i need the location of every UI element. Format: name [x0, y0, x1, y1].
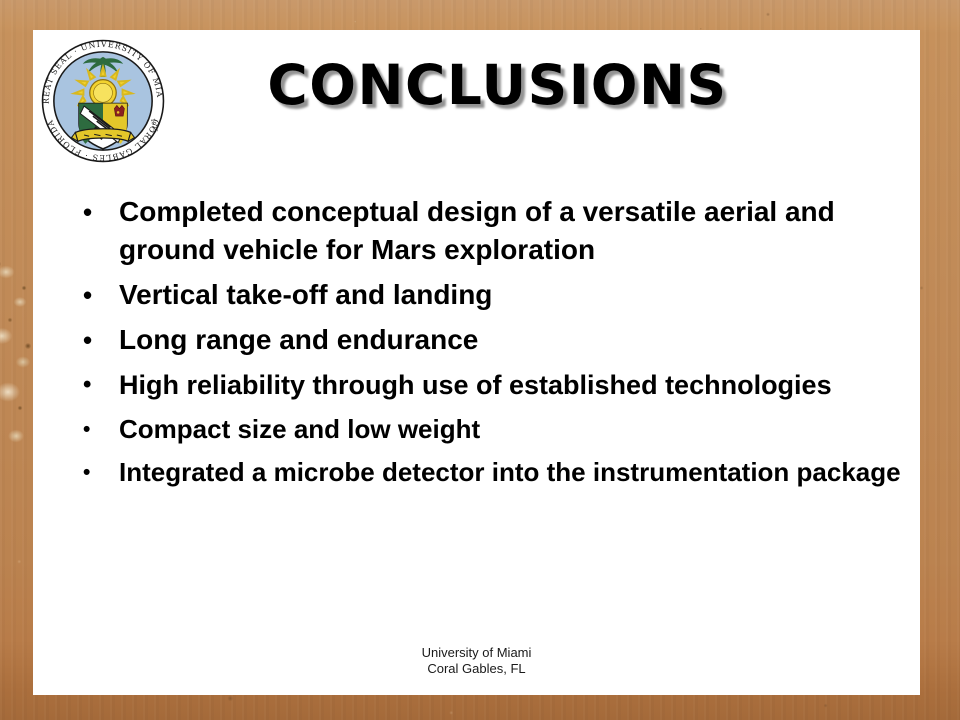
footer-line-institution: University of Miami — [33, 645, 920, 661]
list-item-text: Compact size and low weight — [119, 411, 918, 448]
bullet-marker-icon: • — [83, 411, 119, 448]
list-item-text: High reliability through use of establis… — [119, 366, 918, 404]
footer-line-location: Coral Gables, FL — [33, 661, 920, 677]
list-item: • Completed conceptual design of a versa… — [83, 193, 918, 269]
bullet-marker-icon: • — [83, 321, 119, 359]
list-item: • Integrated a microbe detector into the… — [83, 454, 918, 491]
list-item: • Compact size and low weight — [83, 411, 918, 448]
slide-footer: University of Miami Coral Gables, FL — [33, 645, 920, 677]
list-item-text: Integrated a microbe detector into the i… — [119, 454, 918, 491]
list-item: • High reliability through use of establ… — [83, 366, 918, 404]
bullet-marker-icon: • — [83, 193, 119, 231]
list-item: • Vertical take-off and landing — [83, 276, 918, 314]
bullet-marker-icon: • — [83, 366, 119, 404]
list-item-text: Vertical take-off and landing — [119, 276, 918, 314]
conclusions-bullet-list: • Completed conceptual design of a versa… — [83, 193, 918, 497]
list-item: • Long range and endurance — [83, 321, 918, 359]
list-item-text: Long range and endurance — [119, 321, 918, 359]
bullet-marker-icon: • — [83, 276, 119, 314]
list-item-text: Completed conceptual design of a versati… — [119, 193, 918, 269]
bullet-marker-icon: • — [83, 454, 119, 491]
slide-canvas: GREAT SEAL · UNIVERSITY OF MIAMI CORAL G… — [0, 0, 960, 720]
page-title: CONCLUSIONS — [33, 53, 920, 117]
slide-content-panel: GREAT SEAL · UNIVERSITY OF MIAMI CORAL G… — [33, 30, 920, 695]
